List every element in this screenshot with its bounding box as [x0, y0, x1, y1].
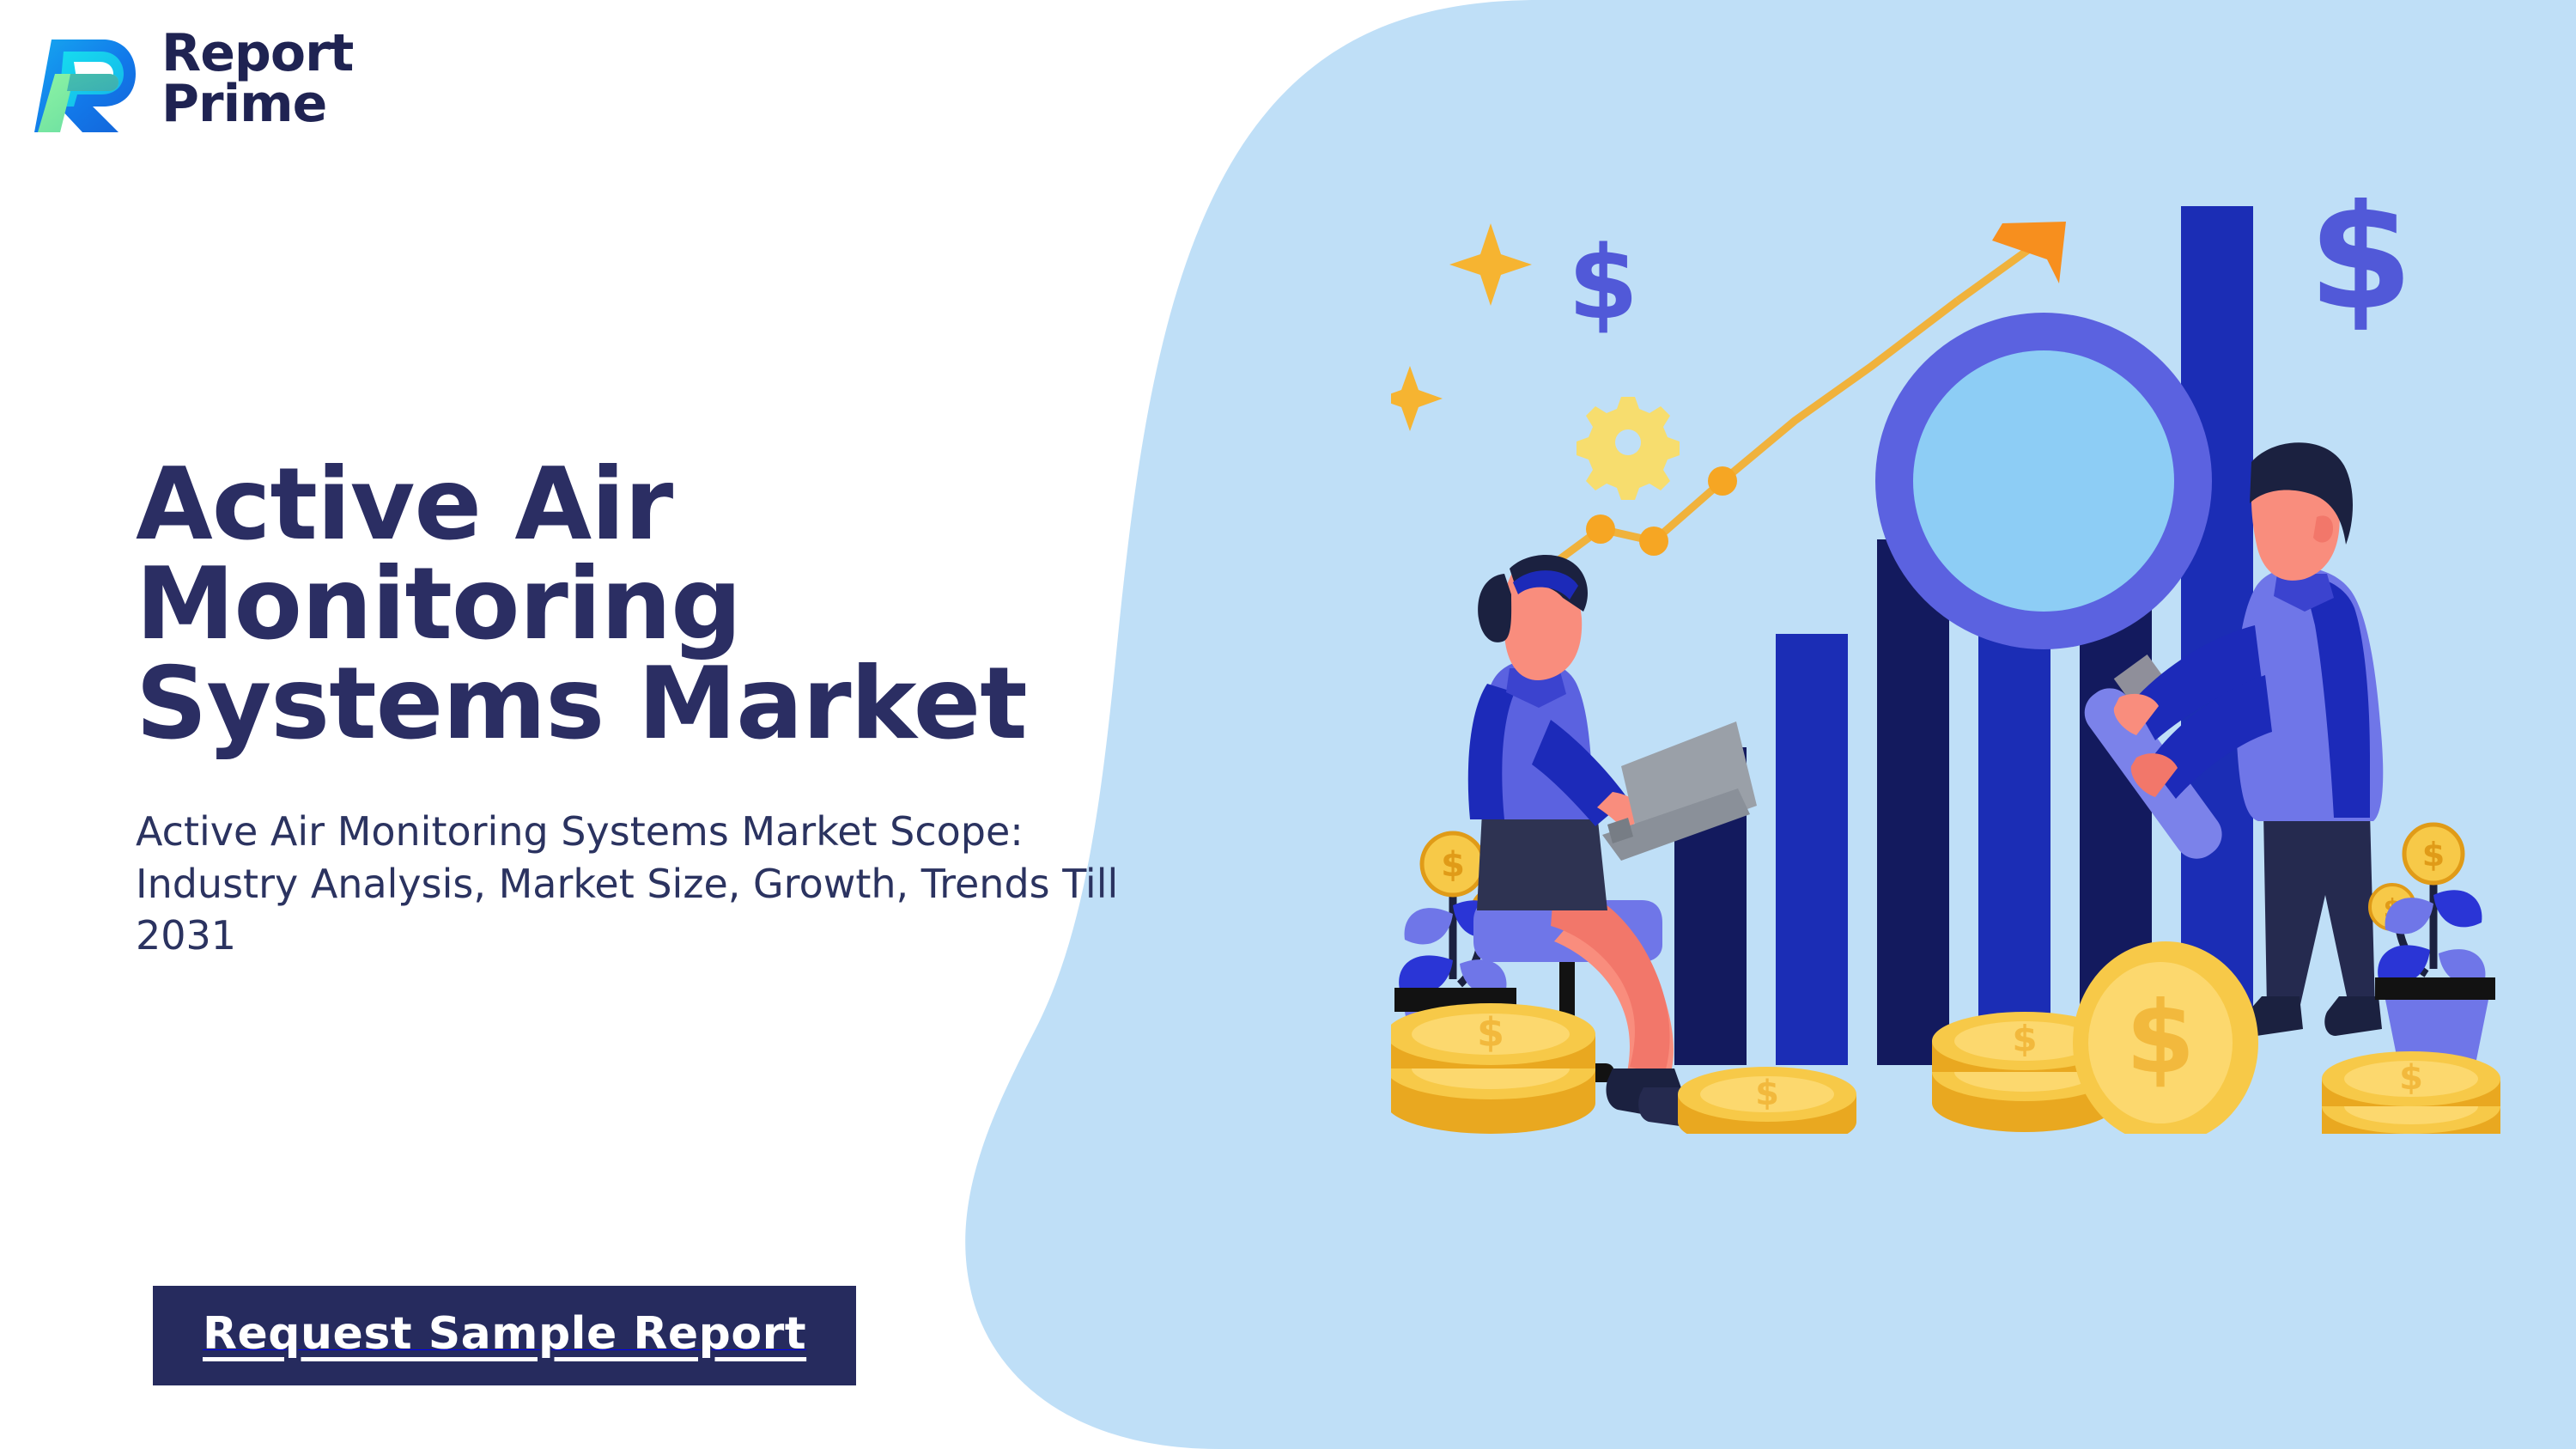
request-sample-report-label: Request Sample Report: [203, 1308, 806, 1360]
gear-icon: [1577, 397, 1680, 500]
svg-text:$: $: [2422, 836, 2445, 874]
svg-text:$: $: [2308, 198, 2413, 344]
brand-name-line1: Report: [161, 28, 353, 79]
brand-wordmark: Report Prime: [161, 28, 353, 130]
svg-text:$: $: [1568, 223, 1638, 342]
svg-text:$: $: [2399, 1058, 2423, 1098]
money-plant-pot: $ $: [2370, 825, 2495, 1060]
dollar-symbol-small: $: [1568, 223, 1638, 342]
brand-logo[interactable]: Report Prime: [29, 19, 433, 139]
market-research-illustration: $ $ $ $: [1391, 198, 2533, 1134]
svg-text:$: $: [2012, 1018, 2037, 1060]
page-subtitle-line-3: 2031: [136, 910, 1527, 962]
bar-3: [1877, 539, 1949, 1065]
coin-stack: $: [2322, 1051, 2500, 1134]
dollar-symbol-large: $: [2308, 198, 2413, 344]
page-subtitle-line-1: Active Air Monitoring Systems Market Sco…: [136, 806, 1527, 858]
hero-banner: Report Prime Active Air Monitoring Syste…: [0, 0, 2576, 1449]
svg-text:$: $: [2126, 980, 2196, 1096]
svg-text:$: $: [1441, 845, 1465, 885]
coin-stack: $: [1391, 1003, 1595, 1134]
brand-name-line2: Prime: [161, 79, 353, 130]
report-prime-r-mark-icon: [29, 24, 139, 134]
page-subtitle-line-2: Industry Analysis, Market Size, Growth, …: [136, 858, 1527, 910]
request-sample-report-button[interactable]: Request Sample Report: [153, 1286, 856, 1385]
page-subtitle: Active Air Monitoring Systems Market Sco…: [136, 806, 1527, 962]
bar-2: [1776, 634, 1848, 1065]
svg-text:$: $: [1755, 1074, 1779, 1113]
coin-stack: $: [1678, 1067, 1856, 1134]
svg-text:$: $: [1477, 1009, 1504, 1056]
sparkle-star: [1391, 223, 1532, 431]
